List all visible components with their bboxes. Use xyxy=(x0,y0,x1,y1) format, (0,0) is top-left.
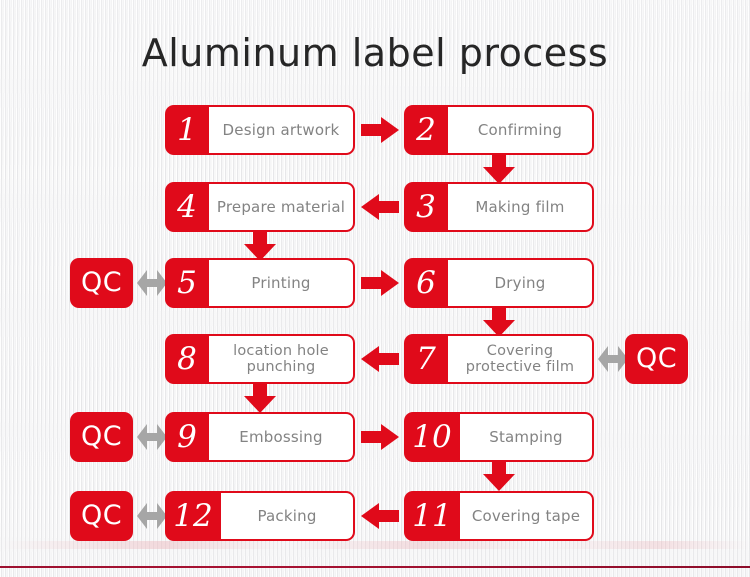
step-panel-5: Printing xyxy=(209,258,355,308)
step-label-2: Confirming xyxy=(478,122,562,139)
arrow-right-icon xyxy=(361,424,399,450)
step-panel-7: Covering protective film xyxy=(448,334,594,384)
step-box-3[interactable]: 3 Making film xyxy=(404,182,594,232)
step-number-3: 3 xyxy=(404,182,448,232)
step-label-4: Prepare material xyxy=(217,199,345,216)
step-number-4: 4 xyxy=(165,182,209,232)
step-box-1[interactable]: 1 Design artwork xyxy=(165,105,355,155)
step-label-11: Covering tape xyxy=(472,508,580,525)
bottom-haze xyxy=(0,541,750,549)
step-box-4[interactable]: 4 Prepare material xyxy=(165,182,355,232)
double-arrow-icon xyxy=(137,423,167,451)
step-label-1: Design artwork xyxy=(223,122,340,139)
step-label-3: Making film xyxy=(475,199,564,216)
arrow-left-icon xyxy=(361,346,399,372)
step-label-7-line2: protective film xyxy=(466,359,574,375)
arrow-3-to-4 xyxy=(361,194,399,220)
qc-badge-covering-protective-film[interactable]: QC xyxy=(625,334,688,384)
double-arrow-icon xyxy=(137,502,167,530)
flowchart-canvas: Aluminum label process 1 Design artwork … xyxy=(0,0,750,577)
qc-badge-printing[interactable]: QC xyxy=(70,258,133,308)
qc-link-12 xyxy=(137,502,167,530)
step-label-9: Embossing xyxy=(239,429,322,446)
qc-badge-packing[interactable]: QC xyxy=(70,491,133,541)
arrow-left-icon xyxy=(361,503,399,529)
step-box-6[interactable]: 6 Drying xyxy=(404,258,594,308)
step-panel-11: Covering tape xyxy=(460,491,594,541)
step-label-7: Covering protective film xyxy=(466,343,574,375)
step-box-2[interactable]: 2 Confirming xyxy=(404,105,594,155)
arrow-down-icon xyxy=(244,383,276,413)
arrow-6-to-7 xyxy=(483,307,515,337)
step-number-8: 8 xyxy=(165,334,209,384)
step-panel-8: location hole punching xyxy=(209,334,355,384)
qc-link-5 xyxy=(137,269,167,297)
step-panel-9: Embossing xyxy=(209,412,355,462)
step-box-11[interactable]: 11 Covering tape xyxy=(404,491,594,541)
qc-link-9 xyxy=(137,423,167,451)
arrow-right-icon xyxy=(361,270,399,296)
step-number-5: 5 xyxy=(165,258,209,308)
arrow-right-icon xyxy=(361,117,399,143)
arrow-1-to-2 xyxy=(361,117,399,143)
step-label-7-line1: Covering xyxy=(466,343,574,359)
double-arrow-icon xyxy=(598,345,628,373)
step-panel-1: Design artwork xyxy=(209,105,355,155)
step-number-6: 6 xyxy=(404,258,448,308)
step-label-10: Stamping xyxy=(489,429,563,446)
arrow-4-to-5 xyxy=(244,231,276,261)
arrow-2-to-3 xyxy=(483,154,515,184)
step-box-8[interactable]: 8 location hole punching xyxy=(165,334,355,384)
step-number-9: 9 xyxy=(165,412,209,462)
step-number-2: 2 xyxy=(404,105,448,155)
step-panel-6: Drying xyxy=(448,258,594,308)
step-label-6: Drying xyxy=(495,275,546,292)
step-label-8-line2: punching xyxy=(233,359,329,375)
step-box-10[interactable]: 10 Stamping xyxy=(404,412,594,462)
arrow-down-icon xyxy=(483,154,515,184)
arrow-10-to-11 xyxy=(483,461,515,491)
arrow-down-icon xyxy=(244,231,276,261)
arrow-7-to-8 xyxy=(361,346,399,372)
arrow-down-icon xyxy=(483,461,515,491)
step-number-12: 12 xyxy=(165,491,221,541)
step-panel-2: Confirming xyxy=(448,105,594,155)
step-label-5: Printing xyxy=(251,275,310,292)
step-box-12[interactable]: 12 Packing xyxy=(165,491,355,541)
step-panel-3: Making film xyxy=(448,182,594,232)
step-label-12: Packing xyxy=(257,508,316,525)
step-number-11: 11 xyxy=(404,491,460,541)
arrow-down-icon xyxy=(483,307,515,337)
step-panel-10: Stamping xyxy=(460,412,594,462)
step-panel-4: Prepare material xyxy=(209,182,355,232)
arrow-9-to-10 xyxy=(361,424,399,450)
step-number-7: 7 xyxy=(404,334,448,384)
page-title: Aluminum label process xyxy=(0,31,750,75)
step-label-8-line1: location hole xyxy=(233,343,329,359)
step-box-5[interactable]: 5 Printing xyxy=(165,258,355,308)
arrow-5-to-6 xyxy=(361,270,399,296)
step-panel-12: Packing xyxy=(221,491,355,541)
step-label-8: location hole punching xyxy=(233,343,329,375)
bottom-divider xyxy=(0,566,750,568)
arrow-left-icon xyxy=(361,194,399,220)
step-number-10: 10 xyxy=(404,412,460,462)
step-number-1: 1 xyxy=(165,105,209,155)
qc-badge-embossing[interactable]: QC xyxy=(70,412,133,462)
step-box-9[interactable]: 9 Embossing xyxy=(165,412,355,462)
arrow-11-to-12 xyxy=(361,503,399,529)
arrow-8-to-9 xyxy=(244,383,276,413)
qc-link-7 xyxy=(598,345,628,373)
double-arrow-icon xyxy=(137,269,167,297)
step-box-7[interactable]: 7 Covering protective film xyxy=(404,334,594,384)
